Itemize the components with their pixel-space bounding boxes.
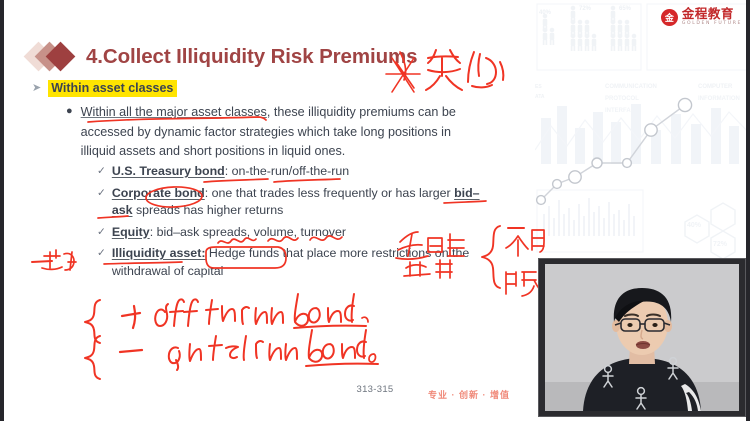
check-list: ✓ U.S. Treasury bond: on-the-run/off-the… xyxy=(97,163,497,284)
paragraph-underlined-lead: Within all the major asset classes xyxy=(81,105,267,119)
slide-title-row: 4.Collect Illiquidity Risk Premiums xyxy=(28,42,417,72)
check-text: Corporate bond: one that trades less fre… xyxy=(112,185,497,220)
check-icon: ✓ xyxy=(97,245,106,280)
list-item: ✓ Equity: bid–ask spreads, volume, turno… xyxy=(97,224,497,242)
list-item-label: Illiquidity asset: xyxy=(112,246,206,260)
list-item-sep: : xyxy=(225,164,232,178)
list-item-body: bid–ask spreads, volume, turnover xyxy=(157,225,346,239)
level2-paragraph: ● Within all the major asset classes, th… xyxy=(66,103,486,162)
check-icon: ✓ xyxy=(97,185,106,220)
list-item: ✓ U.S. Treasury bond: on-the-run/off-the… xyxy=(97,163,497,181)
list-item-body: one that trades less frequently or has l… xyxy=(212,186,454,200)
instructor-portrait xyxy=(545,264,739,411)
list-item-label: Corporate bond xyxy=(112,186,205,200)
list-item: ✓ Corporate bond: one that trades less f… xyxy=(97,185,497,220)
paragraph-text: Within all the major asset classes, thes… xyxy=(81,103,486,162)
check-icon: ✓ xyxy=(97,224,106,242)
list-item: ✓ Illiquidity asset: Hedge funds that pl… xyxy=(97,245,497,280)
brand-slogan: 专业 · 创新 · 增值 xyxy=(428,388,510,401)
list-item-sep: : xyxy=(205,186,212,200)
highlighted-heading: Within asset classes xyxy=(48,80,177,97)
check-text: U.S. Treasury bond: on-the-run/off-the-r… xyxy=(112,163,349,181)
logo-seal-icon: 金 xyxy=(661,9,678,26)
page-title: 4.Collect Illiquidity Risk Premiums xyxy=(86,47,417,68)
check-text: Illiquidity asset: Hedge funds that plac… xyxy=(112,245,497,280)
list-item-tail2: spreads has higher returns xyxy=(133,203,284,217)
instructor-video-panel[interactable] xyxy=(538,258,746,417)
list-item-sep: : xyxy=(150,225,157,239)
brand-logo: 金 金程教育 GOLDEN FUTURE xyxy=(661,8,742,26)
list-item-label: U.S. Treasury bond xyxy=(112,164,225,178)
slide-stage: 40%72%65% ES ATA COMMUNICATION PROTOCOL … xyxy=(0,0,750,421)
logo-english-name: GOLDEN FUTURE xyxy=(682,22,742,27)
level1-bullet: ➤ Within asset classes xyxy=(32,80,177,97)
logo-text-block: 金程教育 GOLDEN FUTURE xyxy=(682,8,742,26)
list-item-body: on-the-run/off-the-run xyxy=(232,164,350,178)
window-left-edge xyxy=(0,0,4,421)
round-bullet-icon: ● xyxy=(66,103,73,162)
video-frame[interactable] xyxy=(545,264,739,411)
check-text: Equity: bid–ask spreads, volume, turnove… xyxy=(112,224,346,242)
arrow-bullet-icon: ➤ xyxy=(32,83,41,94)
check-icon: ✓ xyxy=(97,163,106,181)
logo-chinese-name: 金程教育 xyxy=(682,8,742,21)
list-item-label: Equity xyxy=(112,225,150,239)
diamond-bullet-icon xyxy=(28,42,86,72)
window-right-edge xyxy=(746,0,750,421)
